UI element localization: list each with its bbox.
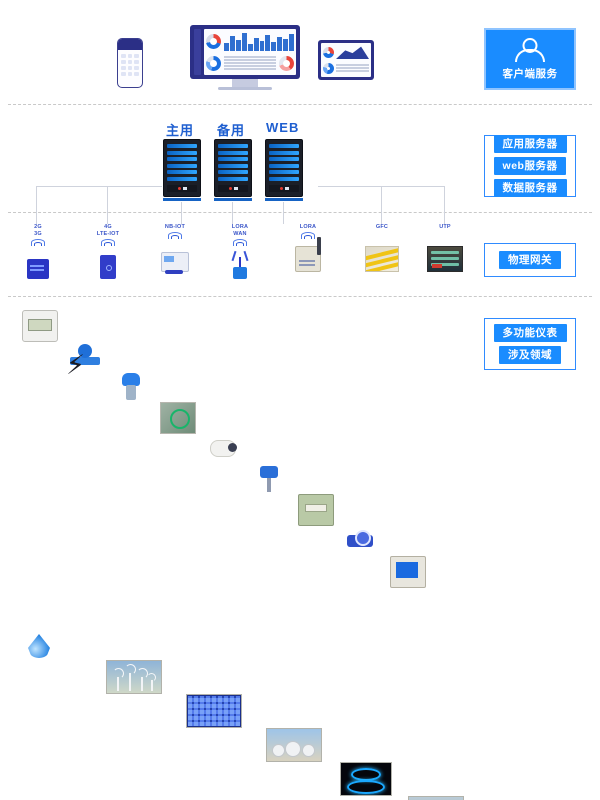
tablet-device [318, 40, 374, 80]
connector-right-down-1 [381, 186, 382, 224]
monitor-base [218, 87, 272, 90]
wind-turbine-photo [106, 660, 162, 694]
wifi-signal-icon-4 [233, 239, 247, 247]
side-label-web-server: web服务器 [494, 157, 567, 175]
side-label-app-server: 应用服务器 [494, 135, 567, 153]
donut-chart-icon [206, 34, 221, 49]
gateway-utp-label: UTP [413, 224, 477, 231]
camera-sensor-icon [206, 434, 240, 464]
phone-keypad [118, 50, 142, 80]
side-label-physical-gateway: 物理网关 [499, 251, 561, 269]
gateway-label-box: 物理网关 [484, 243, 576, 277]
server-label-backup: 备用 [217, 120, 245, 139]
gateway-2g-3g-label: 2G 3G [6, 224, 70, 238]
table-lines-icon [224, 53, 276, 73]
connector-left-down-1 [36, 186, 37, 224]
dashboard-row-bottom [206, 53, 294, 73]
table-lines-icon-2 [336, 61, 369, 75]
gateway-gfc[interactable]: GFC [350, 224, 414, 272]
router-box-icon [27, 259, 49, 279]
wifi-signal-icon-3 [168, 232, 182, 240]
server-rack-primary[interactable] [163, 139, 201, 197]
fiber-cable-icon [365, 246, 399, 272]
server-label-web: WEB [266, 120, 299, 135]
server-rack-backup[interactable] [214, 139, 252, 197]
gas-tank-photo [266, 728, 322, 762]
area-chart-icon [336, 45, 369, 59]
side-label-multifunction-meter: 多功能仪表 [494, 324, 567, 342]
tier-separator-3 [8, 296, 592, 297]
donut-chart-icon-2 [206, 56, 221, 71]
connector-server-drop-2 [232, 202, 233, 224]
tablet-row-bottom [323, 61, 369, 75]
pressure-transmitter-icon [114, 372, 148, 402]
dashboard-body [204, 29, 296, 75]
side-label-application-field: 涉及领域 [499, 346, 561, 364]
device-labels-box: 多功能仪表 涉及领域 [484, 318, 576, 370]
solar-panel-photo [186, 694, 242, 728]
person-icon [515, 38, 545, 64]
side-label-data-server: 数据服务器 [494, 179, 567, 197]
gas-burner-photo [340, 762, 392, 796]
wifi-signal-icon-5 [301, 232, 315, 240]
server-label-primary: 主用 [166, 120, 194, 139]
gateway-nb-iot[interactable]: NB-IOT [143, 224, 207, 272]
nb-iot-device-icon [161, 252, 189, 272]
network-switch-icon [427, 246, 463, 272]
connector-left-down-2 [107, 186, 108, 224]
lora-modem-icon [295, 246, 321, 272]
wifi-signal-icon-2 [101, 239, 115, 247]
water-drop-icon [28, 630, 50, 660]
monitor-screen [190, 25, 300, 79]
connector-left-horizontal [36, 186, 162, 187]
tier-separator-1 [8, 104, 592, 105]
server-labels-box: 应用服务器 web服务器 数据服务器 [484, 135, 576, 197]
phone-status-bar [118, 39, 142, 50]
gateway-gfc-label: GFC [350, 224, 414, 231]
monitor-stand [232, 79, 258, 87]
gateway-lora[interactable]: LORA [276, 224, 340, 272]
gateway-lora-label: LORA [276, 224, 340, 231]
tablet-row-top [323, 45, 369, 59]
connector-server-drop-3 [283, 202, 284, 224]
client-service-box[interactable]: 客户端服务 [484, 28, 576, 90]
bar-chart-icon [224, 31, 294, 51]
antenna-icon [229, 251, 251, 279]
client-service-label: 客户端服务 [503, 66, 558, 81]
gateway-utp[interactable]: UTP [413, 224, 477, 272]
water-meter-icon [344, 526, 378, 556]
controller-display-icon [390, 556, 426, 588]
pressure-gauge-icon [252, 464, 286, 494]
power-substation-photo [408, 796, 464, 800]
dashboard-sidebar [194, 29, 201, 75]
gateway-lora-wan-label: LORA WAN [208, 224, 272, 238]
donut-chart-icon-3 [279, 56, 294, 71]
tablet-screen [321, 43, 371, 77]
mobile-phone-device [117, 38, 143, 88]
gateway-nb-iot-label: NB-IOT [143, 224, 207, 231]
gateway-4g-lte-iot[interactable]: 4G LTE-IOT [76, 224, 140, 279]
gateway-4g-label: 4G LTE-IOT [76, 224, 140, 238]
donut-chart-icon-5 [323, 63, 334, 74]
connector-server-drop-1 [181, 202, 182, 224]
wifi-signal-icon [31, 239, 45, 247]
gateway-2g-3g[interactable]: 2G 3G [6, 224, 70, 279]
gateway-lora-wan[interactable]: LORA WAN [208, 224, 272, 279]
tier-separator-2 [8, 212, 592, 213]
connector-right-down-2 [444, 186, 445, 224]
electricity-bolt-icon: ⚡ [66, 352, 85, 379]
gauge-panel-icon [160, 402, 196, 434]
server-rack-web[interactable] [265, 139, 303, 197]
modem-tall-icon [100, 255, 116, 279]
dashboard-row-top [206, 31, 294, 51]
architecture-diagram: 客户端服务 主用 备用 WEB 应用服务器 web服务器 数据服务器 2G 3G… [0, 0, 600, 400]
desktop-monitor-device [190, 25, 300, 87]
digital-meter-icon [22, 310, 58, 342]
gas-meter-icon [298, 494, 334, 526]
donut-chart-icon-4 [323, 47, 334, 58]
